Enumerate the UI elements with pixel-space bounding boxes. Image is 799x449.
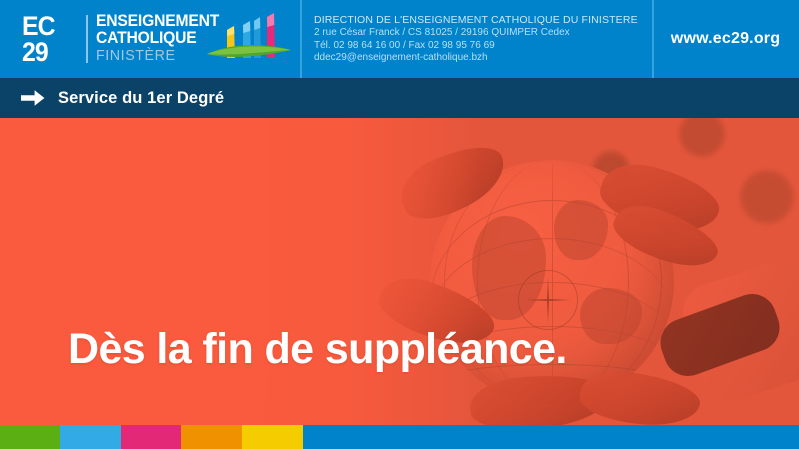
hero-left-gradient	[0, 118, 480, 425]
site-header: EC 29 ENSEIGNEMENT CATHOLIQUE FINISTÈRE	[0, 0, 799, 78]
strip-segment-green	[0, 425, 60, 449]
contact-email[interactable]: ddec29@enseignement-catholique.bzh	[314, 52, 644, 65]
logo-divider	[86, 15, 88, 63]
service-navbar: Service du 1er Degré	[0, 78, 799, 118]
contact-title: DIRECTION DE L'ENSEIGNEMENT CATHOLIQUE D…	[314, 13, 644, 27]
contact-phone: Tél. 02 98 64 16 00 / Fax 02 98 95 76 69	[314, 40, 644, 53]
contact-address: 2 rue César Franck / CS 81025 / 29196 QU…	[314, 27, 644, 40]
strip-segment-blue	[303, 425, 799, 449]
ec29-logo-line1: EC	[22, 13, 75, 39]
strip-segment-orange	[181, 425, 242, 449]
ec29-logo-line2: 29	[22, 39, 75, 65]
strip-segment-yellow	[242, 425, 303, 449]
strip-segment-light-blue	[60, 425, 121, 449]
logo-block[interactable]: EC 29 ENSEIGNEMENT CATHOLIQUE FINISTÈRE	[0, 0, 300, 78]
contact-block: DIRECTION DE L'ENSEIGNEMENT CATHOLIQUE D…	[314, 13, 644, 65]
pencils-and-green-swoosh-icon	[205, 12, 293, 68]
arrow-right-icon	[20, 87, 46, 109]
hero-photo-hands-holding-globe	[0, 118, 799, 425]
header-divider-left	[300, 0, 302, 78]
website-url-link[interactable]: www.ec29.org	[652, 0, 799, 78]
brand-color-strip	[0, 425, 799, 449]
hero-banner: Dès la fin de suppléance.	[0, 118, 799, 425]
ec29-banner: EC 29 ENSEIGNEMENT CATHOLIQUE FINISTÈRE	[0, 0, 799, 449]
navbar-label: Service du 1er Degré	[58, 89, 224, 108]
hero-headline: Dès la fin de suppléance.	[68, 326, 567, 372]
strip-segment-magenta	[121, 425, 181, 449]
ec29-logo-mark: EC 29	[22, 13, 80, 65]
